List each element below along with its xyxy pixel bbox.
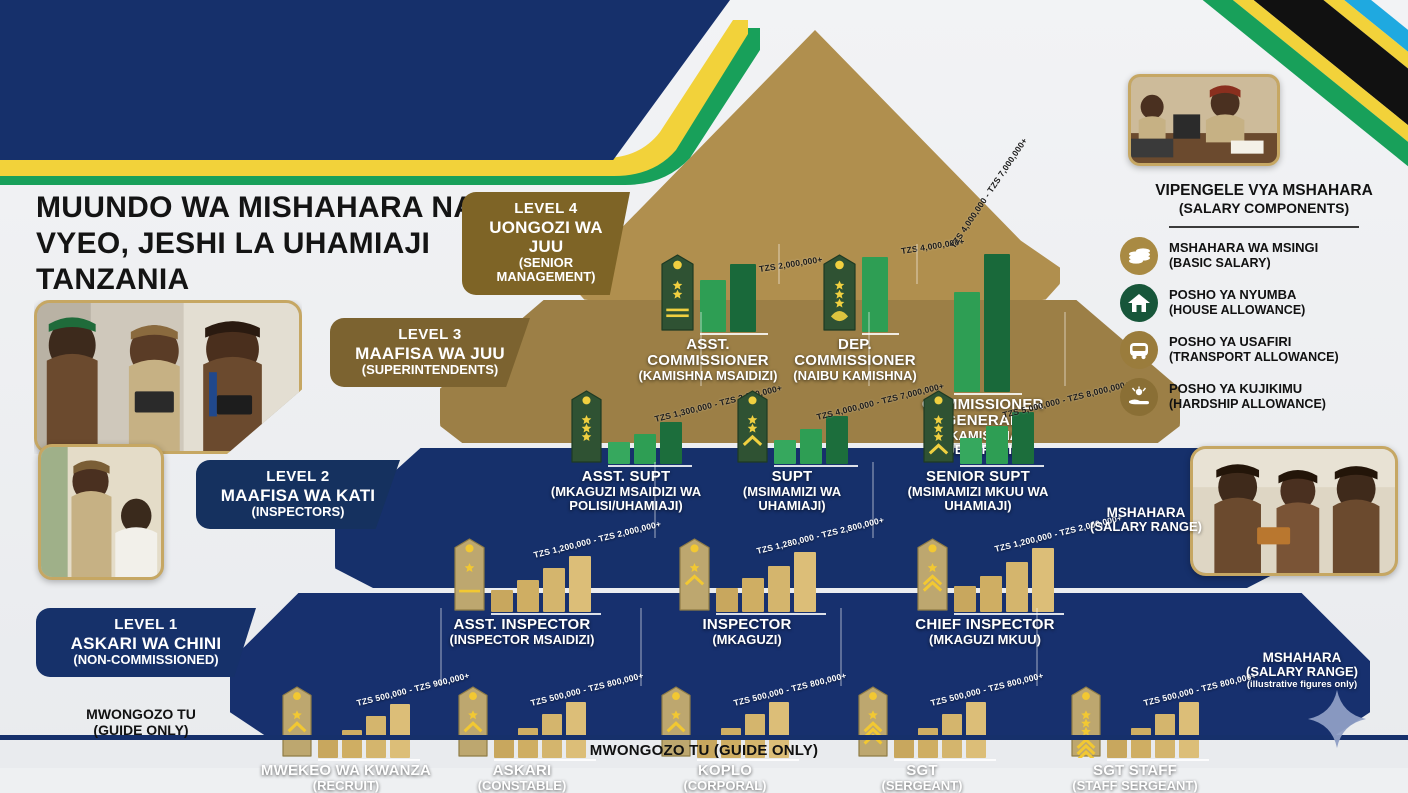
level-4-line3: (SENIOR MANAGEMENT)	[480, 256, 612, 285]
rank-title-sw: (MKAGUZI)	[672, 633, 822, 647]
rank-title-sw: (MSIMAMIZI MKUU WA UHAMIAJI)	[880, 485, 1076, 513]
salary-bar-group: TZS 4,000,000 - TZS 7,000,000+	[954, 254, 1010, 392]
coins-icon	[1120, 237, 1158, 275]
level-1-line2: ASKARI WA CHINI	[54, 634, 238, 653]
legend-0-sub: (BASIC SALARY)	[1169, 256, 1318, 270]
rank-visual: TZS 4,000,000 - TZS 7,000,000+	[922, 254, 1042, 392]
epaulette-icon	[454, 538, 485, 612]
rank-title-sw: (SERGEANT)	[852, 779, 992, 793]
photo-officer-interview	[38, 444, 164, 580]
level-1-divider-0	[440, 608, 442, 686]
rank-title-sw: (MKAGUZI MKUU)	[890, 633, 1080, 647]
bar-baseline	[1107, 759, 1209, 761]
l2-note-line2: (SALARY RANGE)	[1086, 520, 1206, 535]
bar-baseline	[318, 759, 420, 761]
legend-label-transport-allowance: POSHO YA USAFIRI (TRANSPORT ALLOWANCE)	[1169, 335, 1339, 364]
rank-title-en: SGT STAFF	[1046, 763, 1224, 779]
level-1-divider-3	[1036, 608, 1038, 686]
legend-1-label: POSHO YA NYUMBA	[1169, 287, 1296, 302]
level-1-divider-1	[640, 608, 642, 686]
level-4-divider-0	[778, 244, 780, 284]
rank-title: CHIEF INSPECTOR (MKAGUZI MKUU)	[890, 617, 1080, 647]
epaulette-icon	[923, 390, 954, 464]
level-3-line1: LEVEL 3	[348, 327, 512, 344]
salary-bar	[954, 292, 980, 392]
bus-icon	[1120, 331, 1158, 369]
level-pill-2[interactable]: LEVEL 2 MAAFISA WA KATI (INSPECTORS)	[196, 460, 400, 529]
salary-bar	[800, 429, 822, 464]
level-1-divider-2	[840, 608, 842, 686]
salary-bar	[491, 590, 513, 612]
l1-note-line2: (SALARY RANGE)	[1232, 665, 1372, 680]
rank-title-en: ASST. INSPECTOR	[432, 617, 612, 633]
bar-baseline	[608, 465, 692, 467]
header-banner	[0, 0, 730, 160]
salary-bar	[660, 422, 682, 464]
level-1-line1: LEVEL 1	[54, 617, 238, 634]
legend-divider	[1169, 226, 1359, 228]
rank-title-en: INSPECTOR	[672, 617, 822, 633]
rank-column-asst-supt[interactable]: TZS 1,300,000 - TZS 3,000,000+ ASST. SUP…	[528, 390, 724, 512]
salary-bar	[700, 280, 726, 332]
level-2-line2: MAAFISA WA KATI	[214, 486, 382, 505]
salary-bar-group: TZS 1,280,000 - TZS 2,800,000+	[716, 552, 816, 612]
rank-title-sw: (INSPECTOR MSAIDIZI)	[432, 633, 612, 647]
salary-bar	[634, 434, 656, 464]
legend-title-sub: (SALARY COMPONENTS)	[1179, 200, 1349, 216]
rank-title-sw: (KAMISHNA MSAIDIZI)	[638, 369, 778, 383]
level-3-divider-0	[700, 312, 702, 386]
salary-bar	[794, 552, 816, 612]
level-3-divider-1	[868, 312, 870, 386]
legend-item-transport-allowance[interactable]: POSHO YA USAFIRI (TRANSPORT ALLOWANCE)	[1120, 331, 1408, 369]
salary-components-legend: VIPENGELE VYA MSHAHARA (SALARY COMPONENT…	[1120, 182, 1408, 425]
salary-bar	[1006, 562, 1028, 612]
rank-column-supt[interactable]: TZS 4,000,000 - TZS 7,000,000+ SUPT (MSI…	[712, 390, 872, 512]
page-title: MUUNDO WA MISHAHARA NA VYEO, JESHI LA UH…	[36, 190, 476, 298]
salary-bar	[517, 580, 539, 612]
guide-only-note-left: MWONGOZO TU (GUIDE ONLY)	[46, 706, 236, 738]
rank-title-sw: (MKAGUZI MSAIDIZI WA POLISI/UHAMIAJI)	[528, 485, 724, 513]
epaulette-icon	[679, 538, 710, 612]
rank-title-en: KOPLO	[650, 763, 800, 779]
legend-2-sub: (TRANSPORT ALLOWANCE)	[1169, 350, 1339, 364]
rank-column-asst-commissioner[interactable]: TZS 2,000,000+ ASST. COMMISSIONER (KAMIS…	[638, 254, 778, 383]
rank-title-sw: (CONSTABLE)	[452, 779, 592, 793]
epaulette-icon	[737, 390, 768, 464]
salary-bar-group: TZS 5,000,000 - TZS 8,000,000+	[960, 412, 1034, 464]
rank-title: KOPLO (CORPORAL)	[650, 763, 800, 793]
rank-column-senior-supt[interactable]: TZS 5,000,000 - TZS 8,000,000+ SENIOR SU…	[880, 390, 1076, 512]
sparkle-decoration-icon	[1306, 688, 1368, 750]
bar-baseline	[491, 613, 601, 615]
salary-bar-group: TZS 4,000,000 - TZS 7,000,000+	[774, 416, 848, 464]
rank-title: ASKARI (CONSTABLE)	[452, 763, 592, 793]
rank-title: SENIOR SUPT (MSIMAMIZI MKUU WA UHAMIAJI)	[880, 469, 1076, 512]
rank-title-en: SENIOR SUPT	[880, 469, 1076, 485]
salary-bar	[1012, 412, 1034, 464]
hand-holding-icon	[1120, 378, 1158, 416]
rank-title-en: SGT	[852, 763, 992, 779]
legend-3-label: POSHO YA KUJIKIMU	[1169, 381, 1302, 396]
rank-visual: TZS 4,000,000+	[790, 254, 920, 332]
rank-visual: TZS 1,200,000 - TZS 2,000,000+	[432, 538, 612, 612]
rank-visual: TZS 1,300,000 - TZS 3,000,000+	[528, 390, 724, 464]
salary-bar	[980, 576, 1002, 612]
legend-title: VIPENGELE VYA MSHAHARA (SALARY COMPONENT…	[1120, 182, 1408, 219]
rank-title-sw: (STAFF SERGEANT)	[1046, 779, 1224, 793]
l1-note-line1: MSHAHARA	[1232, 650, 1372, 665]
guide-left-line2: (GUIDE ONLY)	[46, 722, 236, 738]
salary-bar	[569, 556, 591, 612]
legend-item-house-allowance[interactable]: POSHO YA NYUMBA (HOUSE ALLOWANCE)	[1120, 284, 1408, 322]
salary-bar	[826, 416, 848, 464]
legend-label-hardship-allowance: POSHO YA KUJIKIMU (HARDSHIP ALLOWANCE)	[1169, 382, 1326, 411]
rank-title: SUPT (MSIMAMIZI WA UHAMIAJI)	[712, 469, 872, 512]
epaulette-icon	[823, 254, 856, 332]
salary-bar	[608, 442, 630, 464]
bar-baseline	[697, 759, 799, 761]
salary-bar-group: TZS 1,200,000 - TZS 2,000,000+	[954, 548, 1054, 612]
level-2-line1: LEVEL 2	[214, 469, 382, 486]
level-pill-1[interactable]: LEVEL 1 ASKARI WA CHINI (NON-COMMISSIONE…	[36, 608, 256, 677]
rank-title-en: CHIEF INSPECTOR	[890, 617, 1080, 633]
rank-column-asst-inspector[interactable]: TZS 1,200,000 - TZS 2,000,000+ ASST. INS…	[432, 538, 612, 647]
legend-title-main: VIPENGELE VYA MSHAHARA	[1155, 182, 1373, 199]
rank-title-sw: (MSIMAMIZI WA UHAMIAJI)	[712, 485, 872, 513]
rank-title: SGT STAFF (STAFF SERGEANT)	[1046, 763, 1224, 793]
rank-title: DEP. COMMISSIONER (NAIBU KAMISHNA)	[790, 337, 920, 383]
bar-baseline	[774, 465, 858, 467]
epaulette-icon	[917, 538, 948, 612]
bar-baseline	[894, 759, 996, 761]
rank-title: INSPECTOR (MKAGUZI)	[672, 617, 822, 647]
rank-title-en: ASST. COMMISSIONER	[638, 337, 778, 369]
salary-bar	[960, 438, 982, 464]
rank-title-en: MWEKEO WA KWANZA	[248, 763, 444, 779]
level-1-line3: (NON-COMMISSIONED)	[54, 653, 238, 668]
rank-title-sw: (NAIBU KAMISHNA)	[790, 369, 920, 383]
rank-title-en: ASST. SUPT	[528, 469, 724, 485]
photo-ceremony-icon	[1193, 449, 1395, 573]
salary-bar	[774, 440, 796, 464]
level-3-line2: MAAFISA WA JUU	[348, 344, 512, 363]
epaulette-icon	[661, 254, 694, 332]
level-2-divider-1	[872, 462, 874, 538]
salary-bar	[768, 566, 790, 612]
rank-column-dep-commissioner[interactable]: TZS 4,000,000+ DEP. COMMISSIONER (NAIBU …	[790, 254, 920, 383]
photo-officer-icon	[41, 447, 161, 577]
rank-visual: TZS 5,000,000 - TZS 8,000,000+	[880, 390, 1076, 464]
level-3-line3: (SUPERINTENDENTS)	[348, 363, 512, 378]
rank-visual: TZS 1,280,000 - TZS 2,800,000+	[672, 538, 822, 612]
salary-bar	[984, 254, 1010, 392]
rank-title: MWEKEO WA KWANZA (RECRUIT)	[248, 763, 444, 793]
legend-item-basic-salary[interactable]: MSHAHARA WA MSINGI (BASIC SALARY)	[1120, 237, 1408, 275]
level-4-line2: UONGOZI WA JUU	[480, 218, 612, 256]
rank-visual: TZS 2,000,000+	[638, 254, 778, 332]
salary-bar	[986, 426, 1008, 464]
bar-baseline	[494, 759, 596, 761]
salary-bar-group: TZS 2,000,000+	[700, 264, 756, 332]
rank-title-sw: (RECRUIT)	[248, 779, 444, 793]
rank-title: ASST. COMMISSIONER (KAMISHNA MSAIDIZI)	[638, 337, 778, 383]
legend-0-label: MSHAHARA WA MSINGI	[1169, 240, 1318, 255]
salary-bar-group: TZS 1,300,000 - TZS 3,000,000+	[608, 422, 682, 464]
rank-title-en: DEP. COMMISSIONER	[790, 337, 920, 369]
photo-officers-ceremony	[1190, 446, 1398, 576]
guide-only-note-bottom: MWONGOZO TU (GUIDE ONLY)	[0, 742, 1408, 759]
legend-2-label: POSHO YA USAFIRI	[1169, 334, 1291, 349]
bar-baseline	[954, 613, 1064, 615]
salary-bar	[1032, 548, 1054, 612]
l2-note-line1: MSHAHARA	[1086, 505, 1206, 520]
salary-bar	[730, 264, 756, 332]
rank-title: ASST. SUPT (MKAGUZI MSAIDIZI WA POLISI/U…	[528, 469, 724, 512]
level-3-divider-2	[1064, 312, 1066, 386]
salary-bar	[742, 578, 764, 612]
rank-title: ASST. INSPECTOR (INSPECTOR MSAIDIZI)	[432, 617, 612, 647]
salary-bar-group: TZS 1,200,000 - TZS 2,000,000+	[491, 556, 591, 612]
salary-bar	[954, 586, 976, 612]
legend-item-hardship-allowance[interactable]: POSHO YA KUJIKIMU (HARDSHIP ALLOWANCE)	[1120, 378, 1408, 416]
rank-column-chief-inspector[interactable]: TZS 1,200,000 - TZS 2,000,000+ CHIEF INS…	[890, 538, 1080, 647]
bar-baseline	[716, 613, 826, 615]
salary-bar	[862, 257, 888, 332]
photo-desk-icon	[1131, 77, 1277, 163]
rank-column-inspector[interactable]: TZS 1,280,000 - TZS 2,800,000+ INSPECTOR…	[672, 538, 822, 647]
photo-officers-desk	[1128, 74, 1280, 166]
rank-title-en: ASKARI	[452, 763, 592, 779]
house-icon	[1120, 284, 1158, 322]
salary-bar	[543, 568, 565, 612]
level-pill-4[interactable]: LEVEL 4 UONGOZI WA JUU (SENIOR MANAGEMEN…	[462, 192, 630, 295]
rank-title-en: SUPT	[712, 469, 872, 485]
rank-title-sw: (CORPORAL)	[650, 779, 800, 793]
salary-bar-group: TZS 4,000,000+	[862, 257, 888, 332]
salary-bar	[716, 588, 738, 612]
bar-baseline	[960, 465, 1044, 467]
legend-label-basic-salary: MSHAHARA WA MSINGI (BASIC SALARY)	[1169, 241, 1318, 270]
level-pill-3[interactable]: LEVEL 3 MAAFISA WA JUU (SUPERINTENDENTS)	[330, 318, 530, 387]
bar-baseline	[700, 333, 768, 335]
level-4-line1: LEVEL 4	[480, 201, 612, 218]
legend-1-sub: (HOUSE ALLOWANCE)	[1169, 303, 1305, 317]
rank-title: SGT (SERGEANT)	[852, 763, 992, 793]
salary-range-note-level-1: MSHAHARA (SALARY RANGE) (illustrative fi…	[1232, 650, 1372, 690]
legend-label-house-allowance: POSHO YA NYUMBA (HOUSE ALLOWANCE)	[1169, 288, 1305, 317]
guide-left-line1: MWONGOZO TU	[46, 706, 236, 722]
level-2-divider-0	[654, 462, 656, 538]
epaulette-icon	[571, 390, 602, 464]
legend-3-sub: (HARDSHIP ALLOWANCE)	[1169, 397, 1326, 411]
level-2-line3: (INSPECTORS)	[214, 505, 382, 520]
rank-visual: TZS 1,200,000 - TZS 2,000,000+	[890, 538, 1080, 612]
rank-visual: TZS 4,000,000 - TZS 7,000,000+	[712, 390, 872, 464]
level-4-divider-1	[916, 244, 918, 284]
salary-range-note-level-2: MSHAHARA (SALARY RANGE)	[1086, 505, 1206, 535]
